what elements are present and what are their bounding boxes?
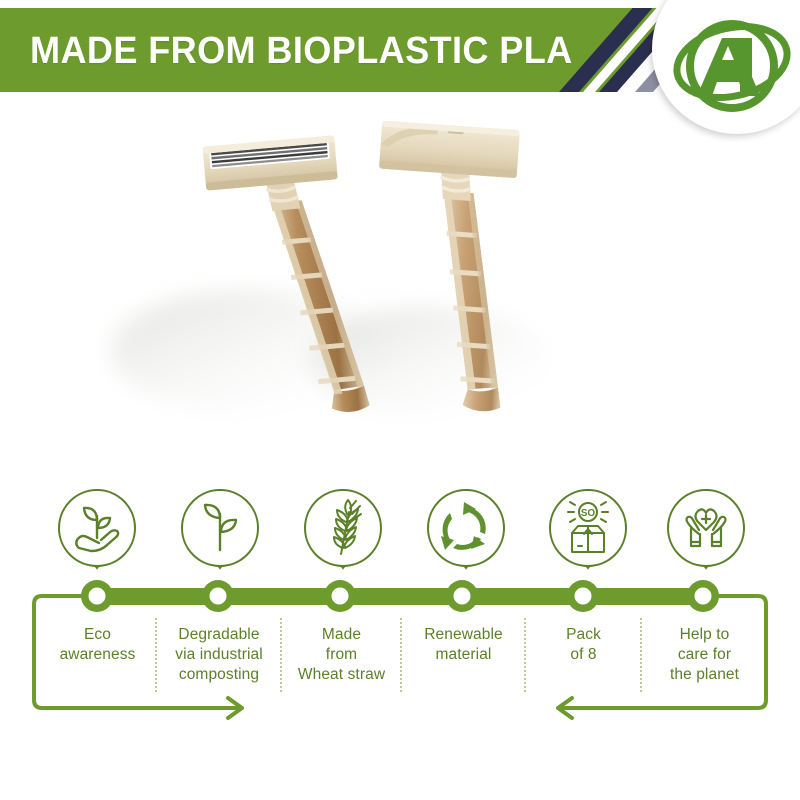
caption-line: Degradable: [158, 625, 280, 645]
caption-line: care for: [643, 645, 766, 665]
hand-holding-plant-icon: [57, 488, 137, 582]
infographic-canvas: MADE FROM BIOPLASTIC PLA: [0, 0, 800, 800]
caption-line: Help to: [643, 625, 766, 645]
caption-pack-of-8: Pack of 8: [527, 625, 640, 665]
recycle-arrows-icon: [426, 488, 506, 582]
razors-illustration: [0, 92, 800, 492]
caption-divider: [524, 618, 526, 692]
caption-help-planet: Help to care for the planet: [643, 625, 766, 685]
caption-line: composting: [158, 665, 280, 685]
caption-line: of 8: [527, 645, 640, 665]
caption-renewable: Renewable material: [403, 625, 524, 665]
features-timeline: SO: [0, 470, 800, 780]
page-title: MADE FROM BIOPLASTIC PLA: [30, 30, 573, 73]
product-image: [0, 92, 800, 492]
wheat-icon: [303, 488, 383, 582]
caption-line: via industrial: [158, 645, 280, 665]
caption-divider: [640, 618, 642, 692]
caption-line: Made: [283, 625, 400, 645]
caption-line: the planet: [643, 665, 766, 685]
box-with-badge-icon: SO: [548, 488, 628, 582]
hands-heart-icon: [666, 488, 746, 582]
caption-divider: [155, 618, 157, 692]
caption-line: Wheat straw: [283, 665, 400, 685]
caption-wheat-straw: Made from Wheat straw: [283, 625, 400, 685]
av-logo: [670, 4, 794, 128]
caption-line: Eco: [40, 625, 155, 645]
caption-degradable: Degradable via industrial composting: [158, 625, 280, 685]
box-badge-label: SO: [581, 508, 596, 519]
caption-line: awareness: [40, 645, 155, 665]
sprout-icon: [180, 488, 260, 582]
caption-eco-awareness: Eco awareness: [40, 625, 155, 665]
caption-line: Pack: [527, 625, 640, 645]
caption-divider: [280, 618, 282, 692]
caption-line: from: [283, 645, 400, 665]
caption-line: material: [403, 645, 524, 665]
caption-divider: [400, 618, 402, 692]
caption-line: Renewable: [403, 625, 524, 645]
